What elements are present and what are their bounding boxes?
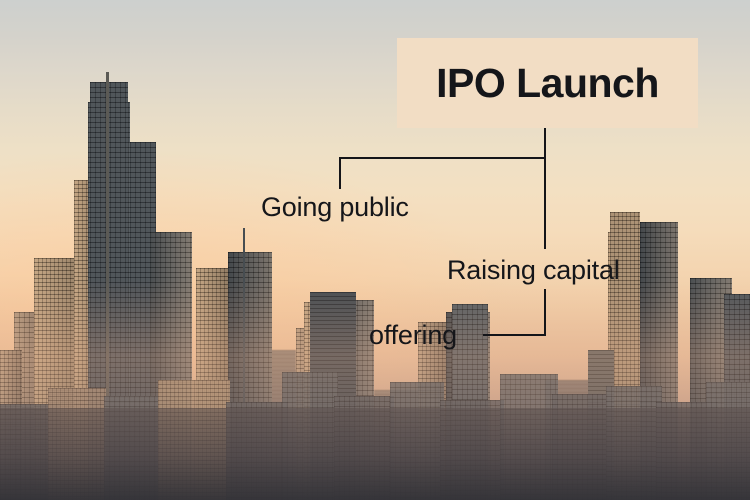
mind-map-overlay: IPO Launch Going public Raising capital … [0, 0, 750, 500]
title-node[interactable]: IPO Launch [397, 38, 698, 128]
node-label-raising-capital[interactable]: Raising capital [447, 255, 620, 286]
title-node-label: IPO Launch [436, 60, 659, 107]
connector-trunk-lower-vertical [544, 289, 546, 336]
node-label-offering[interactable]: offering [369, 320, 457, 351]
node-label-going-public[interactable]: Going public [261, 192, 409, 223]
connector-branch-two-horizontal [483, 334, 546, 336]
connector-branch-one-horizontal [339, 157, 546, 159]
connector-trunk-vertical [544, 128, 546, 249]
connector-branch-one-vertical [339, 157, 341, 189]
skyline-diagram-image: IPO Launch Going public Raising capital … [0, 0, 750, 500]
